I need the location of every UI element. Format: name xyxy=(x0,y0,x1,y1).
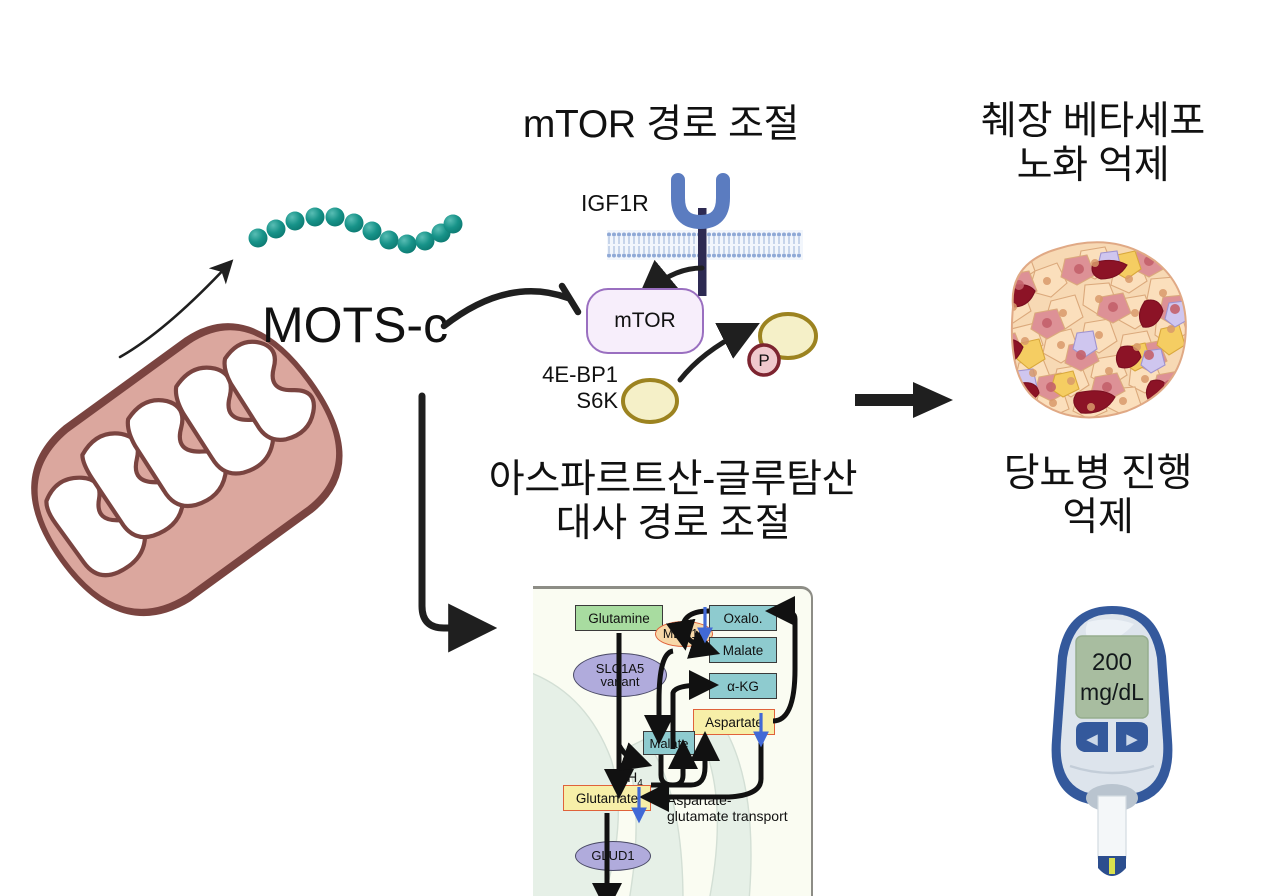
svg-text:P: P xyxy=(758,351,769,370)
svg-text:mg/dL: mg/dL xyxy=(1080,679,1144,705)
substrate-label: 4E-BP1 S6K xyxy=(520,362,618,414)
mtor-node-label: mTOR xyxy=(614,309,675,333)
phospho-protein: P xyxy=(742,308,826,390)
mitochondrion xyxy=(18,322,388,692)
glucose-meter: 200 mg/dL ◀ ▶ xyxy=(1042,600,1182,890)
substrate-protein xyxy=(620,376,680,426)
svg-text:◀: ◀ xyxy=(1086,731,1098,748)
svg-text:▶: ▶ xyxy=(1126,731,1138,748)
figure-canvas: MOTS-c mTOR 경로 조절 IGF1R xyxy=(0,0,1280,896)
metabolic-pathway-inset: Glutamine SLC1A5 variant MDH1b Oxalo. Ma… xyxy=(533,586,813,896)
outcome-top-heading: 췌장 베타세포 노화 억제 xyxy=(928,100,1258,187)
mots-c-peptide xyxy=(248,196,458,266)
pancreatic-islet xyxy=(985,235,1195,425)
outcome-bottom-heading: 당뇨병 진행 억제 xyxy=(948,452,1248,539)
mtor-panel-heading: mTOR 경로 조절 xyxy=(466,103,856,147)
svg-text:200: 200 xyxy=(1092,649,1132,676)
arrow-to-outcome xyxy=(855,378,960,424)
mots-c-label: MOTS-c xyxy=(262,296,448,354)
arrow-mots-inhibits-mtor xyxy=(438,268,588,340)
metabolic-panel-heading: 아스파르트산-글루탐산 대사 경로 조절 xyxy=(448,458,898,545)
igf1r-label: IGF1R xyxy=(581,190,649,217)
